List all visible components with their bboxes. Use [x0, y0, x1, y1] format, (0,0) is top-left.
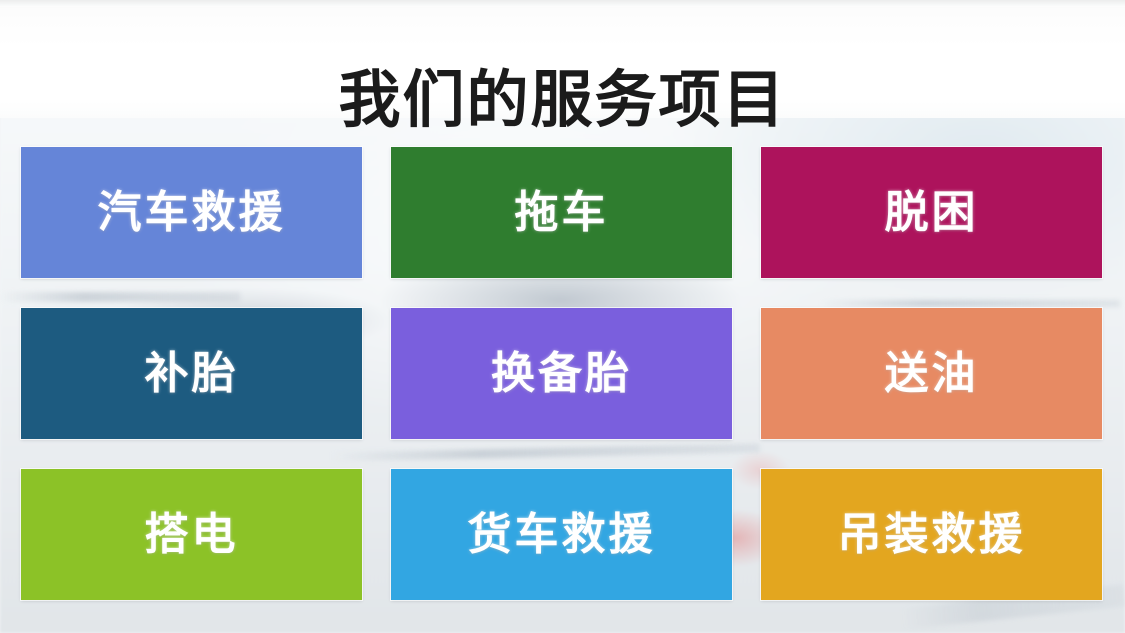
- service-tile-label: 货车救援: [468, 513, 656, 557]
- service-tile-label: 送油: [885, 352, 979, 396]
- service-tile[interactable]: 货车救援: [391, 469, 732, 600]
- service-tile[interactable]: 换备胎: [391, 308, 732, 439]
- top-hairline-divider: [0, 0, 1125, 7]
- service-page: 我们的服务项目 汽车救援拖车脱困补胎换备胎送油搭电货车救援吊装救援: [0, 0, 1125, 633]
- service-grid: 汽车救援拖车脱困补胎换备胎送油搭电货车救援吊装救援: [21, 147, 1103, 600]
- service-tile-label: 汽车救援: [98, 191, 286, 235]
- service-tile[interactable]: 搭电: [21, 469, 362, 600]
- service-tile[interactable]: 吊装救援: [761, 469, 1102, 600]
- service-tile-label: 搭电: [145, 513, 239, 557]
- service-tile[interactable]: 脱困: [761, 147, 1102, 278]
- service-tile-label: 补胎: [145, 352, 239, 396]
- service-tile-label: 吊装救援: [838, 513, 1026, 557]
- service-tile-label: 换备胎: [491, 352, 632, 396]
- service-tile[interactable]: 汽车救援: [21, 147, 362, 278]
- service-tile[interactable]: 补胎: [21, 308, 362, 439]
- service-tile-label: 脱困: [885, 191, 979, 235]
- page-title: 我们的服务项目: [0, 64, 1125, 138]
- service-tile[interactable]: 拖车: [391, 147, 732, 278]
- service-tile-label: 拖车: [515, 191, 609, 235]
- service-tile[interactable]: 送油: [761, 308, 1102, 439]
